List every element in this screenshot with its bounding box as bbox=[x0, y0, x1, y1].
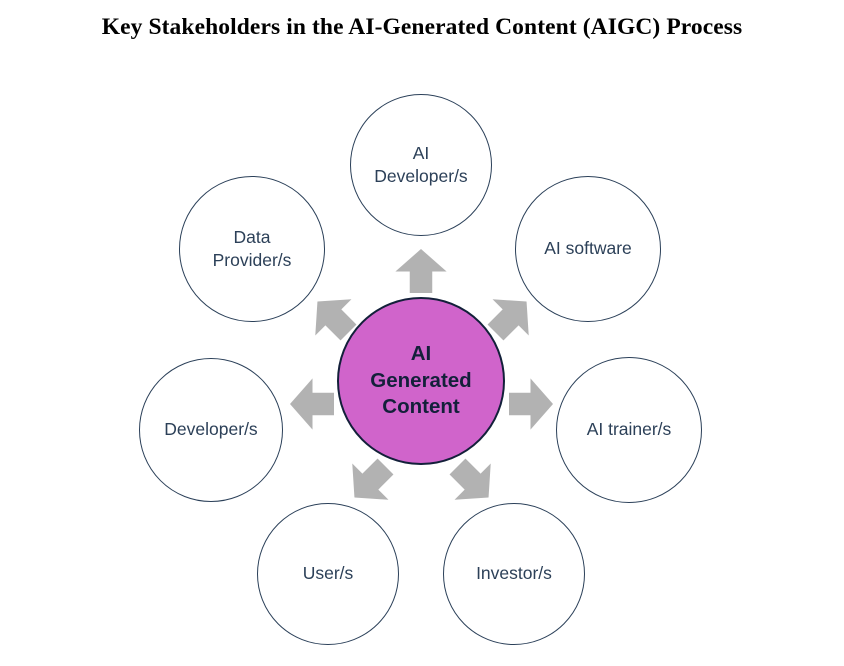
satellite-node-label: Investor/s bbox=[470, 562, 558, 585]
satellite-node-investors[interactable]: Investor/s bbox=[443, 503, 585, 645]
arrow-left-glyph bbox=[290, 378, 334, 430]
center-node-label: AI Generated Content bbox=[370, 341, 471, 421]
satellite-node-label: User/s bbox=[297, 562, 360, 585]
stakeholder-hub-spoke-diagram: AI Developer/sAI softwareAI trainer/sInv… bbox=[0, 0, 844, 666]
arrow-left bbox=[290, 378, 334, 430]
center-node-ai-generated-content[interactable]: AI Generated Content bbox=[337, 297, 505, 465]
arrow-right bbox=[509, 378, 553, 430]
satellite-node-label: Data Provider/s bbox=[207, 226, 298, 272]
satellite-node-label: AI software bbox=[538, 237, 638, 260]
satellite-node-developers[interactable]: Developer/s bbox=[139, 358, 283, 502]
satellite-node-ai-software[interactable]: AI software bbox=[515, 176, 661, 322]
satellite-node-users[interactable]: User/s bbox=[257, 503, 399, 645]
satellite-node-data-providers[interactable]: Data Provider/s bbox=[179, 176, 325, 322]
arrow-up-glyph bbox=[395, 249, 447, 293]
satellite-node-ai-developers[interactable]: AI Developer/s bbox=[350, 94, 492, 236]
arrow-right-glyph bbox=[509, 378, 553, 430]
satellite-node-label: AI Developer/s bbox=[368, 142, 473, 188]
arrow-up bbox=[395, 249, 447, 293]
satellite-node-label: AI trainer/s bbox=[581, 418, 678, 441]
satellite-node-label: Developer/s bbox=[158, 418, 263, 441]
satellite-node-ai-trainers[interactable]: AI trainer/s bbox=[556, 357, 702, 503]
